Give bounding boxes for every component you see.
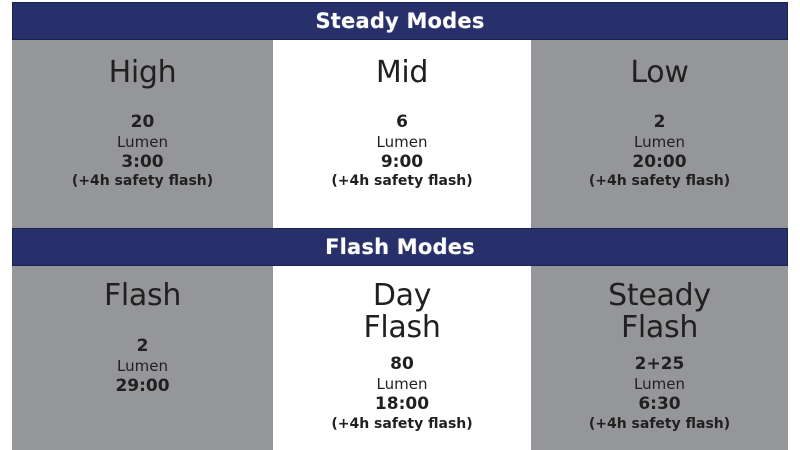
mode-runtime-value: 6:30 bbox=[589, 393, 730, 415]
mode-spec-block: 20 Lumen 3:00 (+4h safety flash) bbox=[72, 112, 213, 191]
mode-title: High bbox=[109, 57, 177, 89]
mode-spec-block: 2 Lumen 20:00 (+4h safety flash) bbox=[589, 112, 730, 191]
mode-runtime-value: 29:00 bbox=[115, 375, 169, 397]
mode-spec-table: Steady Modes High 20 Lumen 3:00 (+4h saf… bbox=[0, 0, 800, 450]
mode-title: Day Flash bbox=[363, 280, 440, 344]
mode-safety-flash-note: (+4h safety flash) bbox=[72, 173, 213, 191]
mode-lumens-value: 80 bbox=[331, 354, 472, 375]
mode-runtime-value: 9:00 bbox=[331, 151, 472, 173]
mode-column-low: Low 2 Lumen 20:00 (+4h safety flash) bbox=[531, 40, 788, 228]
mode-runtime-value: 18:00 bbox=[331, 393, 472, 415]
mode-lumens-value: 2+25 bbox=[589, 354, 730, 375]
mode-title: Flash bbox=[104, 280, 181, 312]
mode-lumens-label: Lumen bbox=[331, 133, 472, 151]
mode-safety-flash-note: (+4h safety flash) bbox=[589, 416, 730, 434]
mode-column-flash: Flash 2 Lumen 29:00 bbox=[12, 266, 273, 450]
mode-lumens-value: 2 bbox=[115, 336, 169, 357]
mode-title: Mid bbox=[376, 57, 428, 89]
mode-spec-block: 80 Lumen 18:00 (+4h safety flash) bbox=[331, 354, 472, 433]
mode-lumens-label: Lumen bbox=[115, 357, 169, 375]
section-banner-steady-modes: Steady Modes bbox=[12, 2, 788, 40]
mode-runtime-value: 3:00 bbox=[72, 151, 213, 173]
mode-lumens-label: Lumen bbox=[589, 133, 730, 151]
section-banner-label: Flash Modes bbox=[325, 237, 475, 258]
mode-lumens-value: 2 bbox=[589, 112, 730, 133]
mode-lumens-label: Lumen bbox=[72, 133, 213, 151]
mode-safety-flash-note: (+4h safety flash) bbox=[589, 173, 730, 191]
mode-lumens-label: Lumen bbox=[589, 375, 730, 393]
mode-column-day-flash: Day Flash 80 Lumen 18:00 (+4h safety fla… bbox=[273, 266, 531, 450]
mode-title: Low bbox=[630, 57, 688, 89]
mode-safety-flash-note: (+4h safety flash) bbox=[331, 173, 472, 191]
mode-lumens-value: 20 bbox=[72, 112, 213, 133]
mode-column-mid: Mid 6 Lumen 9:00 (+4h safety flash) bbox=[273, 40, 531, 228]
mode-lumens-label: Lumen bbox=[331, 375, 472, 393]
mode-runtime-value: 20:00 bbox=[589, 151, 730, 173]
mode-lumens-value: 6 bbox=[331, 112, 472, 133]
mode-column-high: High 20 Lumen 3:00 (+4h safety flash) bbox=[12, 40, 273, 228]
mode-spec-block: 2 Lumen 29:00 bbox=[115, 336, 169, 397]
mode-safety-flash-note: (+4h safety flash) bbox=[331, 416, 472, 434]
mode-title: Steady Flash bbox=[608, 280, 711, 344]
section-banner-label: Steady Modes bbox=[315, 11, 484, 32]
section-banner-flash-modes: Flash Modes bbox=[12, 228, 788, 266]
mode-column-steady-flash: Steady Flash 2+25 Lumen 6:30 (+4h safety… bbox=[531, 266, 788, 450]
mode-spec-block: 2+25 Lumen 6:30 (+4h safety flash) bbox=[589, 354, 730, 433]
mode-spec-block: 6 Lumen 9:00 (+4h safety flash) bbox=[331, 112, 472, 191]
